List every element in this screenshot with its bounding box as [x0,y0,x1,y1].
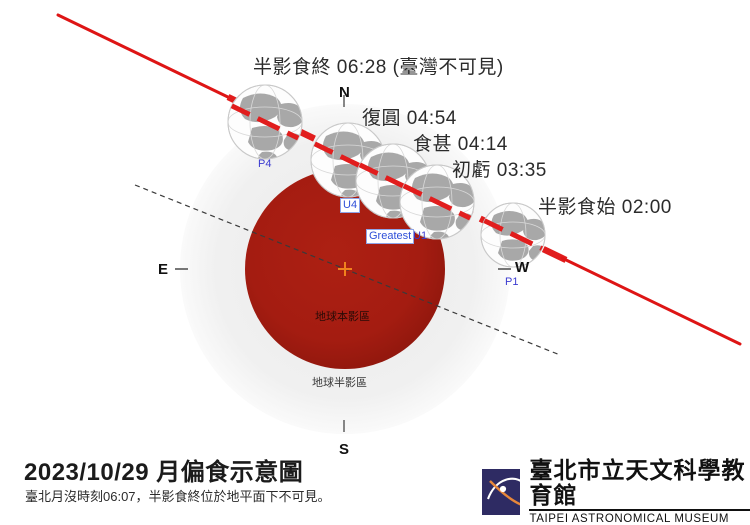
contact-label-greatest: Greatest [366,229,414,244]
moon-path-solid-tail [562,258,740,344]
compass-north: N [339,84,350,101]
zone-label-penumbra: 地球半影區 [312,374,367,390]
event-label-greatest: 食甚 04:14 [413,129,508,156]
contact-label-u4: U4 [340,198,360,213]
compass-west: W [515,259,529,276]
museum-logo: 臺北市立天文科學教育館 TAIPEI ASTRONOMICAL MUSEUM [482,458,750,525]
page-subtitle: 臺北月沒時刻06:07，半影食終位於地平面下不可見。 [25,486,331,505]
logo-name-cn: 臺北市立天文科學教育館 [529,458,750,511]
event-label-penumbral-end: 半影食終 06:28 (臺灣不可見) [253,52,504,79]
event-label-umbral-end: 復圓 04:54 [362,103,457,130]
zone-label-umbra: 地球本影區 [315,308,370,324]
contact-label-p4: P4 [258,158,271,170]
contact-label-u1: U1 [413,230,427,242]
compass-east: E [158,261,168,278]
page-title: 2023/10/29 月偏食示意圖 [24,452,303,487]
event-label-penumbral-begin: 半影食始 02:00 [538,192,672,219]
event-label-umbral-begin: 初虧 03:35 [452,155,547,182]
logo-mark-icon [482,469,520,515]
eclipse-diagram-page: 半影食終 06:28 (臺灣不可見) 復圓 04:54 食甚 04:14 初虧 … [0,0,750,521]
contact-label-p1: P1 [505,276,518,288]
moon-path-solid-head [58,15,232,99]
compass-south: S [339,441,349,458]
logo-name-en: TAIPEI ASTRONOMICAL MUSEUM [529,513,750,525]
moon-p1 [481,203,547,267]
